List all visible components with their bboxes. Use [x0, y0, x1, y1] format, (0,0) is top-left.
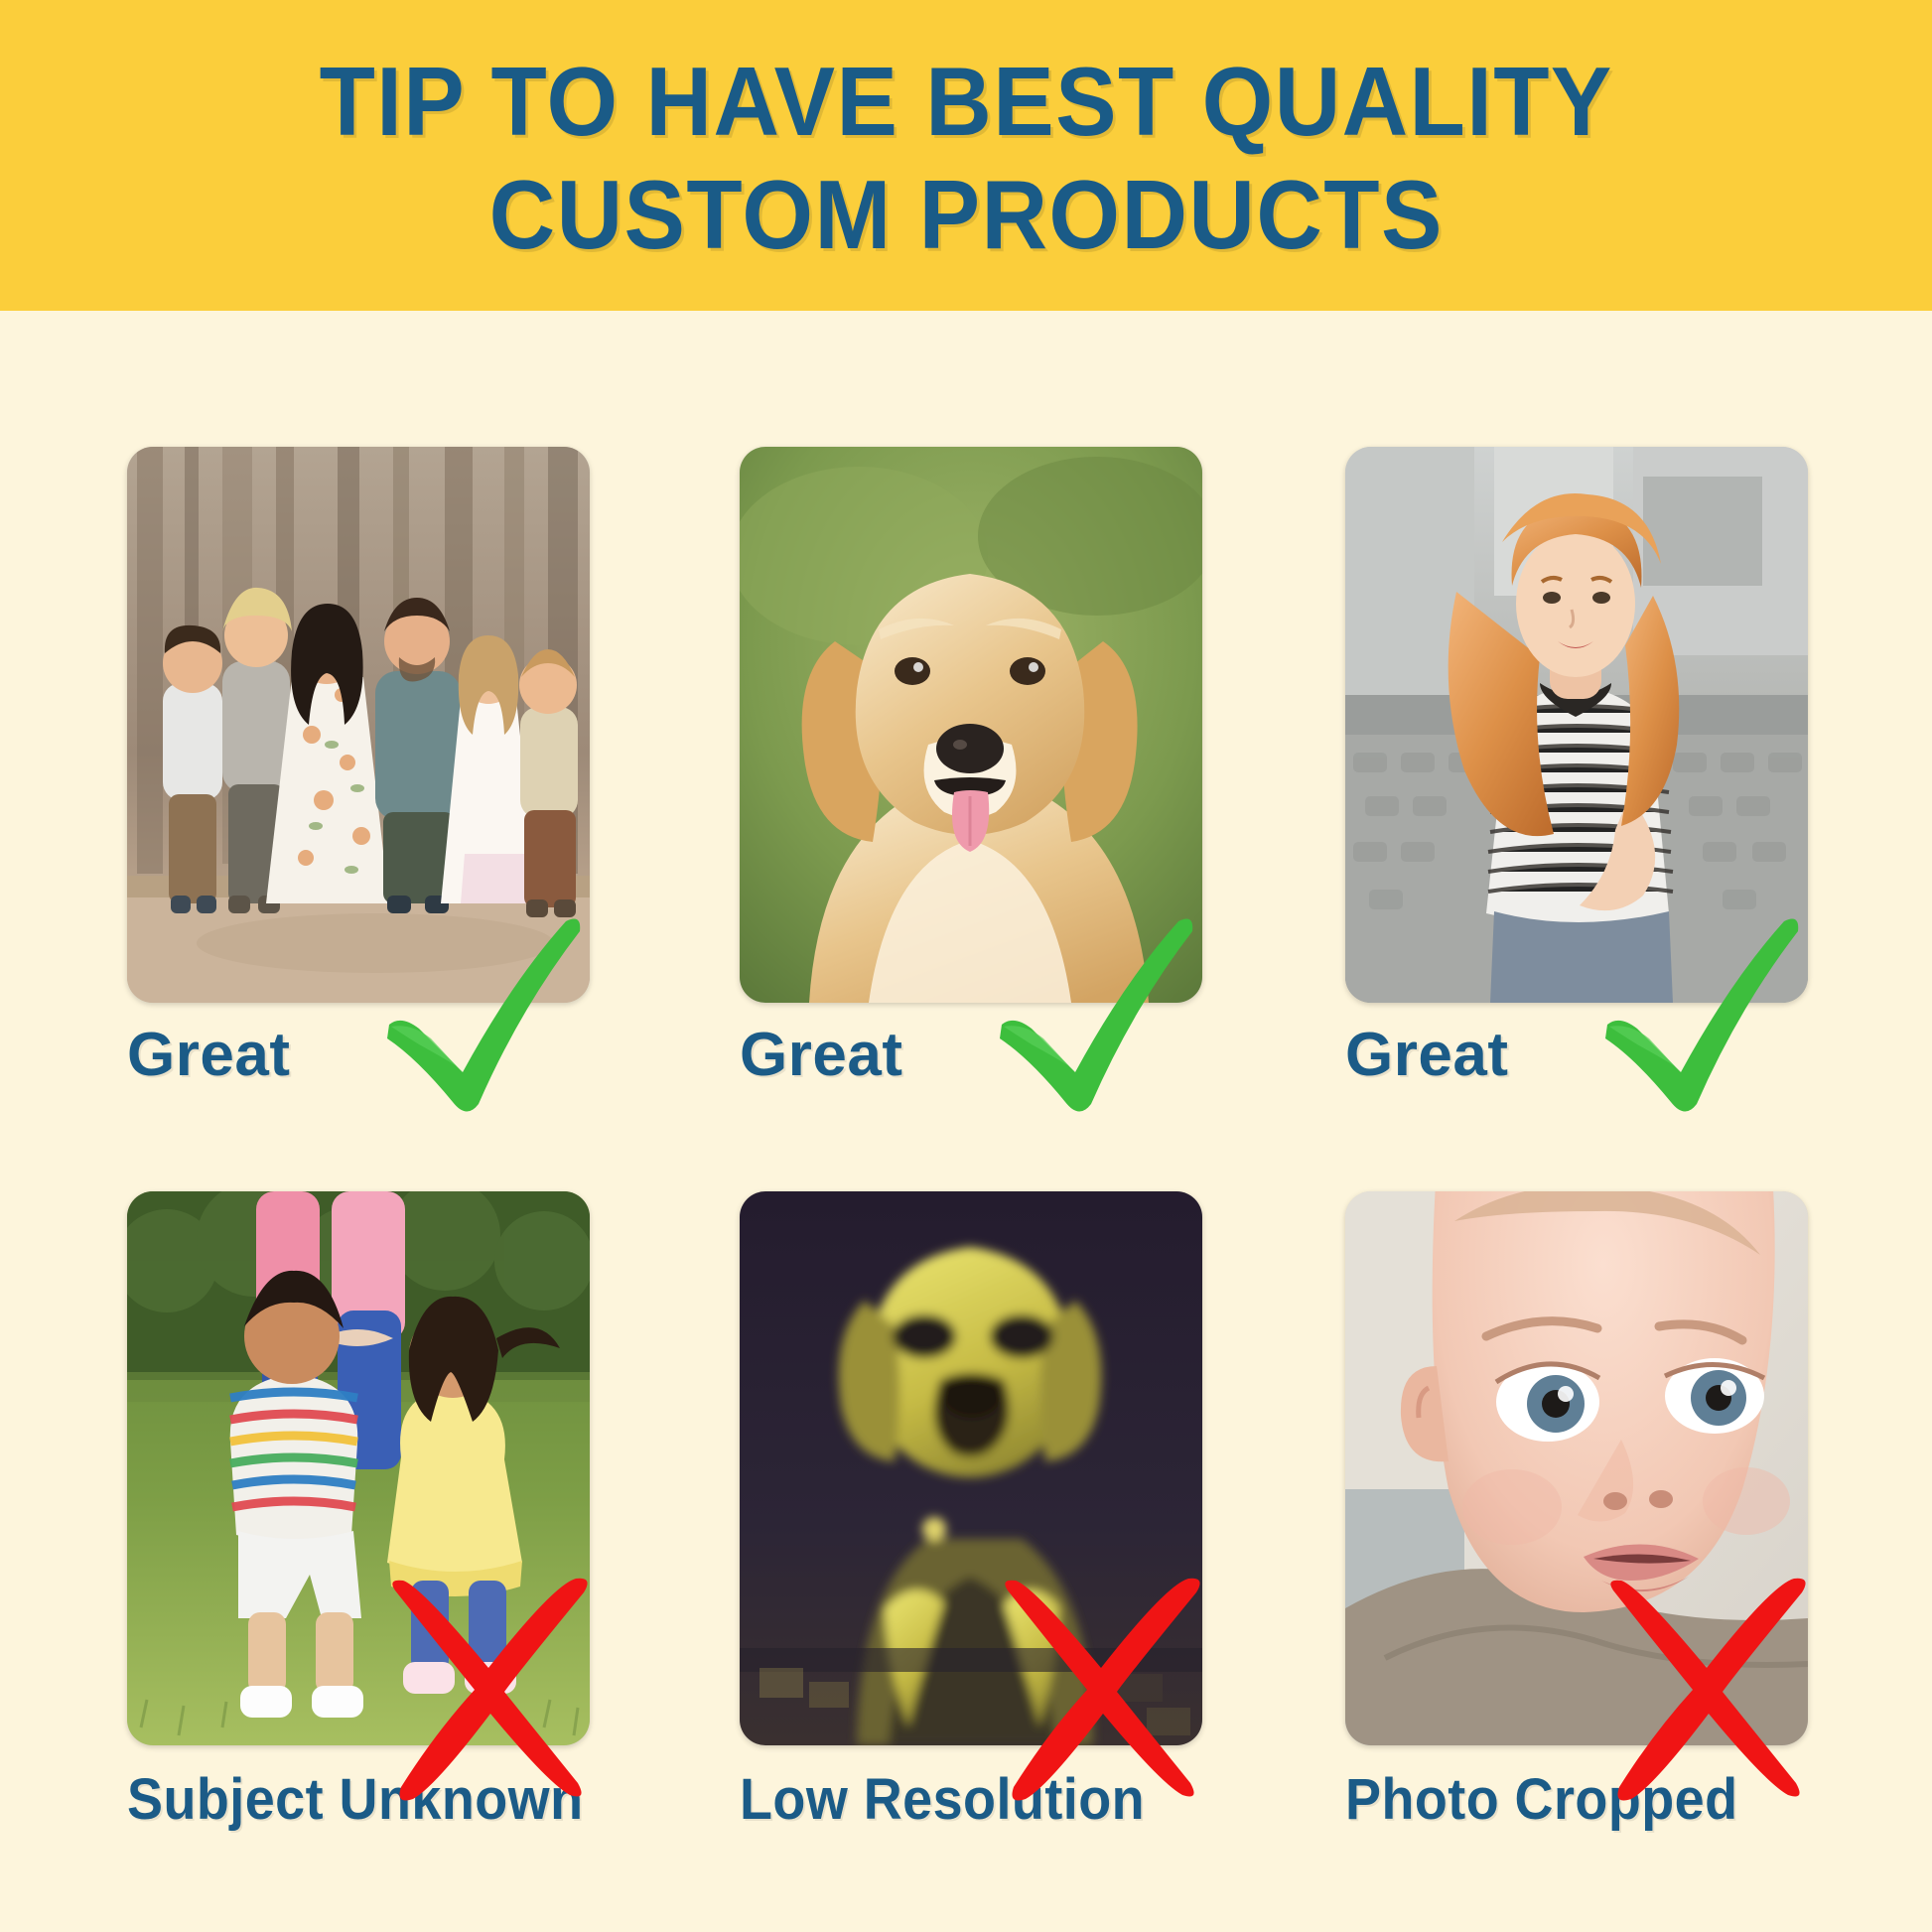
caption-label-children-running: Subject Unknown [127, 1766, 583, 1833]
caption-label-cropped-baby: Photo Cropped [1345, 1766, 1738, 1833]
page-title-line-1: TIP TO HAVE BEST QUALITY [319, 46, 1612, 159]
example-cell-low-res-dog[interactable]: Low Resolution [740, 1191, 1202, 1886]
children-running-photo-art [127, 1191, 590, 1745]
caption-label-family: Great [127, 1020, 290, 1090]
examples-grid: Great [0, 311, 1932, 1932]
example-cell-cropped-baby[interactable]: Photo Cropped [1345, 1191, 1808, 1886]
photo-golden-retriever [740, 447, 1202, 1003]
caption-row-children-running: Subject Unknown [127, 1753, 590, 1845]
caption-row-golden-retriever: Great [740, 1009, 1202, 1100]
golden-retriever-photo-art [740, 447, 1202, 1003]
photo-cropped-baby [1345, 1191, 1808, 1745]
caption-label-low-res-dog: Low Resolution [740, 1766, 1145, 1833]
photo-children-running [127, 1191, 590, 1745]
caption-row-family: Great [127, 1009, 590, 1100]
redhead-woman-photo-art [1345, 447, 1808, 1003]
caption-label-redhead-woman: Great [1345, 1020, 1508, 1090]
example-cell-golden-retriever[interactable]: Great [740, 447, 1202, 1142]
photo-low-res-dog [740, 1191, 1202, 1745]
photo-family [127, 447, 590, 1003]
caption-row-low-res-dog: Low Resolution [740, 1753, 1202, 1845]
caption-label-golden-retriever: Great [740, 1020, 902, 1090]
low-res-dog-photo-art [740, 1191, 1202, 1745]
example-cell-children-running[interactable]: Subject Unknown [127, 1191, 590, 1886]
caption-row-cropped-baby: Photo Cropped [1345, 1753, 1808, 1845]
example-cell-redhead-woman[interactable]: Great [1345, 447, 1808, 1142]
family-photo-art [127, 447, 590, 1003]
caption-row-redhead-woman: Great [1345, 1009, 1808, 1100]
cropped-baby-photo-art [1345, 1191, 1808, 1745]
header-banner: TIP TO HAVE BEST QUALITY CUSTOM PRODUCTS [0, 0, 1932, 311]
example-cell-family-photo[interactable]: Great [127, 447, 590, 1142]
photo-redhead-woman [1345, 447, 1808, 1003]
page-title-line-2: CUSTOM PRODUCTS [488, 159, 1443, 272]
